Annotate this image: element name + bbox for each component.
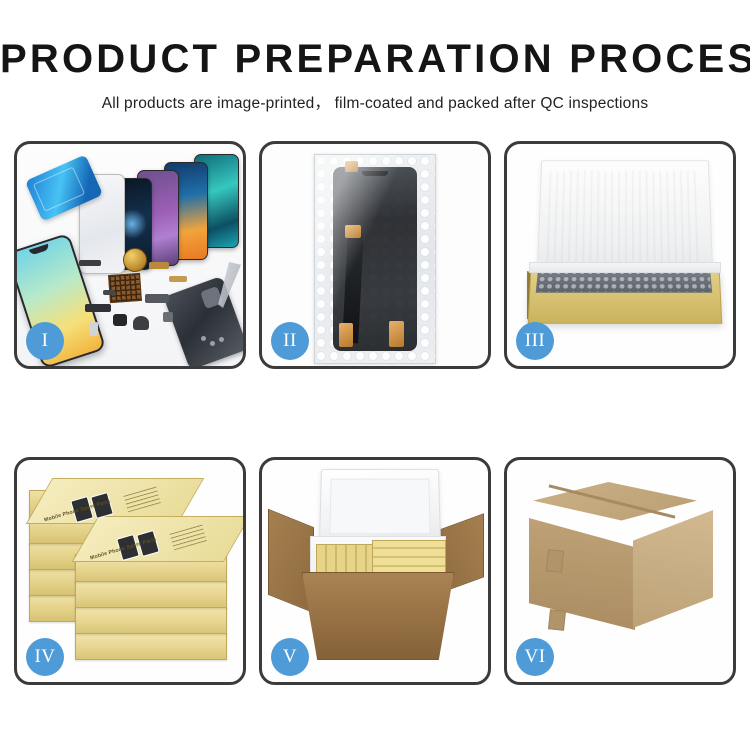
copper-contact-part: [149, 262, 169, 269]
process-step-4[interactable]: Mobile Phone Spare Parts Mobile Phone Sp…: [14, 457, 246, 685]
foam-lid: [537, 160, 714, 277]
connector-part: [145, 294, 169, 303]
process-step-grid: I II III: [14, 141, 736, 685]
phone-backplate: [164, 276, 243, 366]
process-step-3[interactable]: III: [504, 141, 736, 369]
antenna-strip-part: [169, 276, 187, 282]
page-subtitle: All products are image-printed， film-coa…: [0, 91, 750, 113]
small-chip-part: [163, 312, 173, 322]
sim-tray-part: [89, 322, 98, 336]
foam-lid-flipped: [319, 469, 441, 544]
carton-front-face: [529, 518, 635, 630]
stacked-box: [75, 632, 227, 660]
process-step-6[interactable]: VI: [504, 457, 736, 685]
open-carton-body: [302, 572, 454, 660]
packing-tape: [546, 549, 564, 573]
flex-cable-part: [85, 304, 111, 312]
copper-connector: [345, 225, 361, 238]
tray-lip: [529, 262, 721, 273]
step-badge-6: VI: [516, 638, 554, 676]
step-badge-4: IV: [26, 638, 64, 676]
speaker-coil-icon: [123, 248, 147, 272]
camera-module-part: [113, 314, 127, 326]
logic-board-chip-grid: [108, 273, 142, 303]
box-stack: Mobile Phone Spare Parts Mobile Phone Sp…: [29, 482, 234, 670]
step-badge-1: I: [26, 322, 64, 360]
step-badge-3: III: [516, 322, 554, 360]
copper-connector: [339, 323, 353, 347]
process-step-1[interactable]: I: [14, 141, 246, 369]
stacked-box: [75, 580, 227, 608]
copper-connector: [389, 321, 404, 347]
screws-group: [201, 336, 227, 348]
step-badge-5: V: [271, 638, 309, 676]
packing-tape: [548, 609, 566, 631]
ribbon-part: [103, 290, 115, 295]
carton-side-face: [633, 510, 713, 628]
stacked-box: [75, 606, 227, 634]
step-badge-2: II: [271, 322, 309, 360]
bubble-wrap-bag: [314, 154, 436, 364]
process-step-2[interactable]: II: [259, 141, 491, 369]
page-header: PRODUCT PREPARATION PROCESS All products…: [0, 0, 750, 113]
process-step-5[interactable]: V: [259, 457, 491, 685]
copper-connector: [345, 161, 358, 172]
flex-cable-part: [79, 260, 101, 266]
vibrator-motor-part: [133, 316, 149, 330]
page-title: PRODUCT PREPARATION PROCESS: [0, 38, 750, 80]
